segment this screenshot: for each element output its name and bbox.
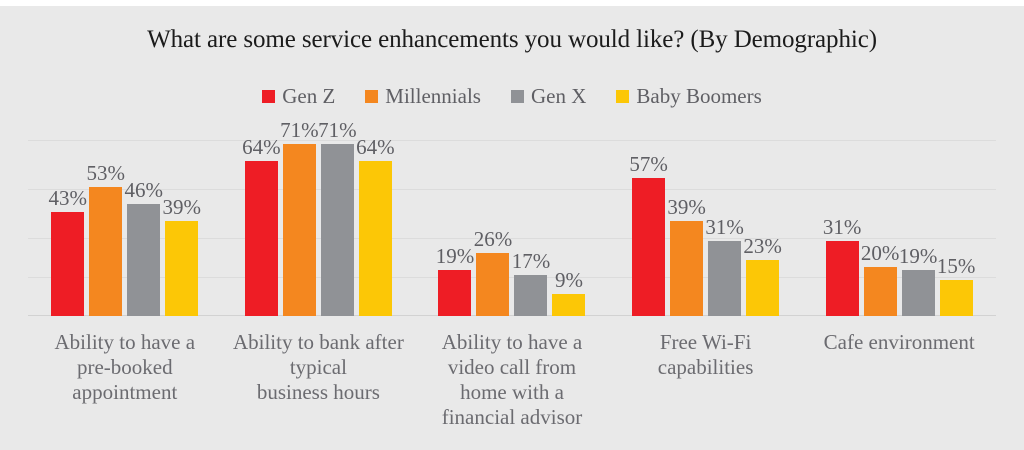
legend-item[interactable]: Baby Boomers xyxy=(616,84,761,109)
bar-group: 57%39%31%23% xyxy=(609,122,803,316)
bar-group: 64%71%71%64% xyxy=(222,122,416,316)
bar-value-label: 17% xyxy=(512,251,551,272)
bar[interactable] xyxy=(359,161,392,316)
legend-item-label: Gen Z xyxy=(282,84,335,109)
category-label-line: home with a xyxy=(419,380,605,405)
chart-title: What are some service enhancements you w… xyxy=(0,26,1024,54)
bar-value-label: 64% xyxy=(242,137,281,158)
legend-swatch-icon xyxy=(365,90,378,103)
legend-item[interactable]: Gen Z xyxy=(262,84,335,109)
bar-value-label: 31% xyxy=(705,217,744,238)
category-label-line: Cafe environment xyxy=(806,330,992,355)
category-label-line: appointment xyxy=(32,380,218,405)
bar-value-label: 57% xyxy=(629,154,668,175)
bar[interactable] xyxy=(245,161,278,316)
category-label-cell: Ability to bank aftertypicalbusiness hou… xyxy=(222,330,416,430)
bar-value-label: 20% xyxy=(861,243,900,264)
bar-column: 46% xyxy=(127,122,160,316)
bar[interactable] xyxy=(708,241,741,316)
bar[interactable] xyxy=(438,270,471,316)
bar[interactable] xyxy=(165,221,198,316)
chart-legend: Gen ZMillennialsGen XBaby Boomers xyxy=(0,84,1024,109)
bar-value-label: 39% xyxy=(163,197,202,218)
category-label-line: Free Wi-Fi xyxy=(613,330,799,355)
bars-row: 57%39%31%23% xyxy=(609,122,803,316)
bar-column: 31% xyxy=(708,122,741,316)
bars-row: 64%71%71%64% xyxy=(222,122,416,316)
legend-swatch-icon xyxy=(616,90,629,103)
bar[interactable] xyxy=(864,267,897,316)
bar-value-label: 64% xyxy=(356,137,395,158)
bar-column: 43% xyxy=(51,122,84,316)
bar-value-label: 46% xyxy=(125,180,164,201)
bar[interactable] xyxy=(283,144,316,316)
bar-column: 26% xyxy=(476,122,509,316)
bar-value-label: 19% xyxy=(436,246,475,267)
top-margin-strip xyxy=(0,0,1024,6)
bar-column: 20% xyxy=(864,122,897,316)
bar-value-label: 15% xyxy=(937,256,976,277)
bar-value-label: 31% xyxy=(823,217,862,238)
category-label-line: Ability to bank after xyxy=(226,330,412,355)
bar[interactable] xyxy=(632,178,665,316)
category-label-line: pre-booked xyxy=(32,355,218,380)
category-label-line: financial advisor xyxy=(419,405,605,430)
bar[interactable] xyxy=(51,212,84,316)
category-label-line: video call from xyxy=(419,355,605,380)
bar-column: 19% xyxy=(902,122,935,316)
category-label-cell: Cafe environment xyxy=(802,330,996,430)
bar-column: 39% xyxy=(670,122,703,316)
bar-column: 9% xyxy=(552,122,585,316)
legend-item[interactable]: Gen X xyxy=(511,84,586,109)
legend-item-label: Baby Boomers xyxy=(636,84,761,109)
category-label-line: Ability to have a xyxy=(32,330,218,355)
bar[interactable] xyxy=(826,241,859,316)
bar-column: 53% xyxy=(89,122,122,316)
bar-value-label: 71% xyxy=(280,120,319,141)
bar-column: 64% xyxy=(359,122,392,316)
category-label-cell: Free Wi-Ficapabilities xyxy=(609,330,803,430)
bar[interactable] xyxy=(514,275,547,316)
bar-group: 19%26%17%9% xyxy=(415,122,609,316)
bar[interactable] xyxy=(670,221,703,316)
bar[interactable] xyxy=(940,280,973,316)
category-label-cell: Ability to have avideo call fromhome wit… xyxy=(415,330,609,430)
bar-value-label: 39% xyxy=(667,197,706,218)
bar[interactable] xyxy=(746,260,779,316)
bar-value-label: 23% xyxy=(743,236,782,257)
bar[interactable] xyxy=(127,204,160,316)
bar-group: 31%20%19%15% xyxy=(802,122,996,316)
bar[interactable] xyxy=(89,187,122,316)
bar-value-label: 9% xyxy=(555,270,583,291)
plot-area: 43%53%46%39%64%71%71%64%19%26%17%9%57%39… xyxy=(28,122,996,316)
bar-column: 71% xyxy=(321,122,354,316)
bar-group: 43%53%46%39% xyxy=(28,122,222,316)
bars-row: 19%26%17%9% xyxy=(415,122,609,316)
bar-value-label: 43% xyxy=(49,188,88,209)
bar-column: 19% xyxy=(438,122,471,316)
bar[interactable] xyxy=(902,270,935,316)
bar-column: 64% xyxy=(245,122,278,316)
category-label-line: business hours xyxy=(226,380,412,405)
bar-column: 39% xyxy=(165,122,198,316)
bar-column: 57% xyxy=(632,122,665,316)
category-label-line: capabilities xyxy=(613,355,799,380)
legend-swatch-icon xyxy=(511,90,524,103)
bar[interactable] xyxy=(321,144,354,316)
category-label-line: typical xyxy=(226,355,412,380)
legend-item[interactable]: Millennials xyxy=(365,84,481,109)
legend-item-label: Millennials xyxy=(385,84,481,109)
bar-value-label: 53% xyxy=(87,163,126,184)
bar-column: 17% xyxy=(514,122,547,316)
category-label-cell: Ability to have apre-bookedappointment xyxy=(28,330,222,430)
bar-value-label: 26% xyxy=(474,229,513,250)
bar-groups: 43%53%46%39%64%71%71%64%19%26%17%9%57%39… xyxy=(28,122,996,316)
legend-item-label: Gen X xyxy=(531,84,586,109)
legend-swatch-icon xyxy=(262,90,275,103)
bar-value-label: 71% xyxy=(318,120,357,141)
chart-container: What are some service enhancements you w… xyxy=(0,0,1024,450)
category-label-line: Ability to have a xyxy=(419,330,605,355)
bar-column: 23% xyxy=(746,122,779,316)
bars-row: 43%53%46%39% xyxy=(28,122,222,316)
bar-column: 15% xyxy=(940,122,973,316)
bars-row: 31%20%19%15% xyxy=(802,122,996,316)
category-labels: Ability to have apre-bookedappointmentAb… xyxy=(28,330,996,430)
bar-column: 31% xyxy=(826,122,859,316)
bar[interactable] xyxy=(552,294,585,316)
bar-column: 71% xyxy=(283,122,316,316)
bar[interactable] xyxy=(476,253,509,316)
bar-value-label: 19% xyxy=(899,246,938,267)
